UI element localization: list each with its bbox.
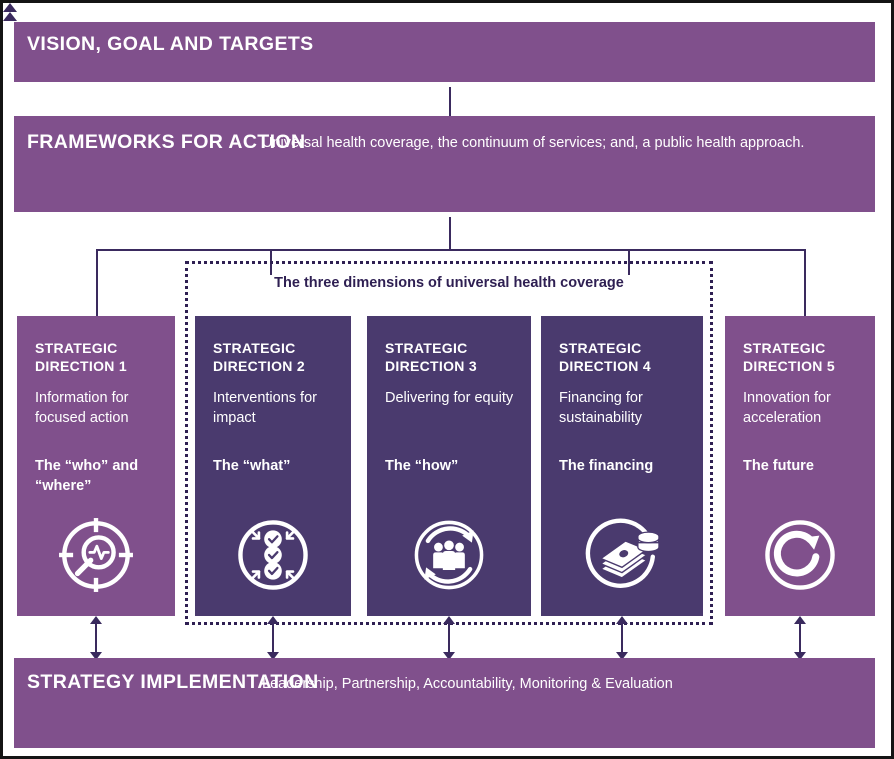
- strategic-direction-3-subtitle: Delivering for equity: [385, 388, 523, 408]
- arrow-column-3-to-strategy: [443, 616, 455, 660]
- uhc-box-label: The three dimensions of universal health…: [185, 275, 713, 291]
- strategic-direction-5-heading: STRATEGIC DIRECTION 5: [743, 340, 867, 376]
- connector-bracket-bar: [96, 249, 806, 251]
- strategic-direction-4-card[interactable]: STRATEGIC DIRECTION 4 Financing for sust…: [541, 316, 703, 616]
- target-magnifier-heartbeat-icon: [17, 511, 175, 599]
- strategic-direction-2-subtitle: Interventions for impact: [213, 388, 343, 428]
- vision-band-title: VISION, GOAL AND TARGETS: [27, 33, 314, 56]
- arrow-frameworks-to-vision-head: [3, 3, 17, 12]
- strategic-direction-2-tagline: The “what”: [213, 456, 343, 476]
- arrow-column-5-to-strategy: [794, 616, 806, 660]
- arrow-column-1-to-strategy: [90, 616, 102, 660]
- strategic-direction-3-card[interactable]: STRATEGIC DIRECTION 3 Delivering for equ…: [367, 316, 531, 616]
- strategic-direction-4-heading: STRATEGIC DIRECTION 4: [559, 340, 695, 376]
- checkmarks-circle-icon: [195, 511, 351, 599]
- strategic-direction-3-tagline: The “how”: [385, 456, 523, 476]
- arrow-column-4-to-strategy: [616, 616, 628, 660]
- arrow-columns-to-frameworks-stem: [449, 217, 451, 251]
- strategic-direction-5-tagline: The future: [743, 456, 867, 476]
- strategic-direction-1-card[interactable]: STRATEGIC DIRECTION 1 Information for fo…: [17, 316, 175, 616]
- strategic-direction-5-card[interactable]: STRATEGIC DIRECTION 5 Innovation for acc…: [725, 316, 875, 616]
- connector-drop-column-1: [96, 249, 98, 319]
- arrow-column-2-to-strategy: [267, 616, 279, 660]
- strategic-direction-1-heading: STRATEGIC DIRECTION 1: [35, 340, 167, 376]
- connector-drop-column-5: [804, 249, 806, 319]
- strategic-direction-1-subtitle: Information for focused action: [35, 388, 167, 428]
- strategic-direction-2-card[interactable]: STRATEGIC DIRECTION 2 Interventions for …: [195, 316, 351, 616]
- strategic-direction-5-subtitle: Innovation for acceleration: [743, 388, 867, 428]
- arrow-frameworks-to-vision-stem: [449, 87, 451, 117]
- people-cycle-icon: [367, 511, 531, 599]
- frameworks-band-body: Universal health coverage, the continuum…: [262, 133, 807, 154]
- circular-arrow-icon: [725, 511, 875, 599]
- strategic-direction-1-tagline: The “who” and “where”: [35, 456, 167, 496]
- strategic-direction-2-heading: STRATEGIC DIRECTION 2: [213, 340, 343, 376]
- strategic-direction-4-subtitle: Financing for sustainability: [559, 388, 695, 428]
- banknotes-coins-icon: [541, 511, 703, 599]
- strategy-band-body: Leadership, Partnership, Accountability,…: [262, 674, 822, 695]
- strategic-direction-3-heading: STRATEGIC DIRECTION 3: [385, 340, 523, 376]
- arrow-columns-to-frameworks-head: [3, 12, 17, 21]
- strategic-direction-4-tagline: The financing: [559, 456, 695, 476]
- diagram-frame: VISION, GOAL AND TARGETS FRAMEWORKS FOR …: [0, 0, 894, 759]
